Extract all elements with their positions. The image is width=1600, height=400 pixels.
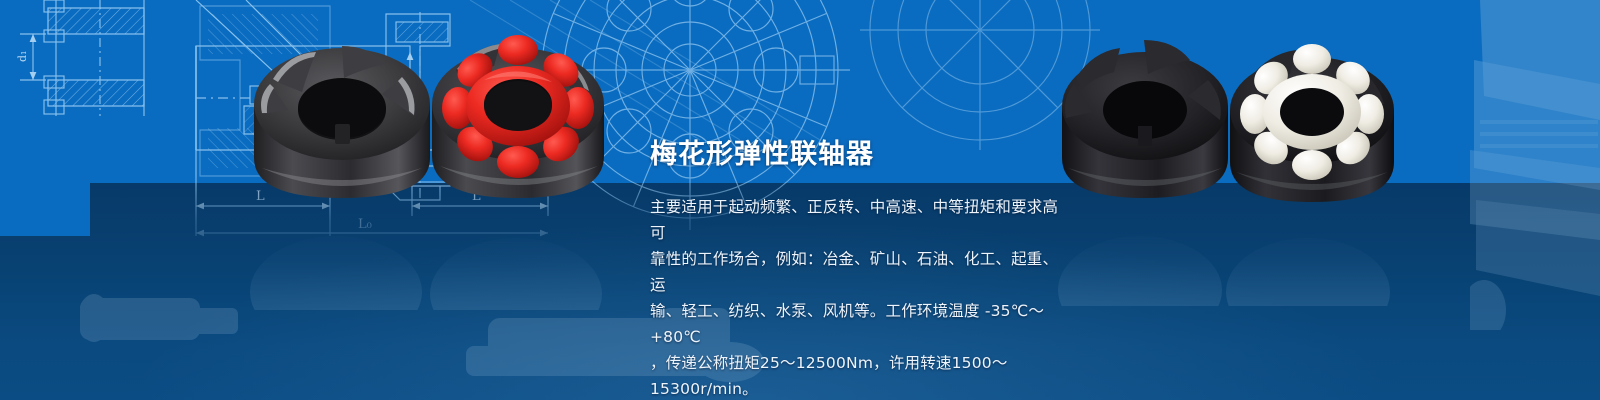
description-line-2: 靠性的工作场合，例如：冶金、矿山、石油、化工、起重、运 bbox=[650, 246, 1070, 298]
description-line-1: 主要适用于起动频繁、正反转、中高速、中等扭矩和要求高可 bbox=[650, 194, 1070, 246]
banner-description: 主要适用于起动频繁、正反转、中高速、中等扭矩和要求高可 靠性的工作场合，例如：冶… bbox=[650, 194, 1070, 400]
ghost-machinery-right bbox=[1470, 0, 1600, 330]
page-title: 梅花形弹性联轴器 bbox=[650, 138, 1070, 172]
product-reflection-right bbox=[1044, 196, 1424, 306]
product-photo-hub-red-spider bbox=[408, 14, 628, 209]
product-photo-hub-white-spider bbox=[1210, 30, 1415, 210]
ghost-machinery-left bbox=[80, 250, 340, 380]
product-banner: d₁ bbox=[0, 0, 1600, 400]
description-line-4: ，传递公称扭矩25～12500Nm，许用转速1500～15300r/min。 bbox=[650, 350, 1070, 400]
description-line-3: 输、轻工、纺织、水泵、风机等。工作环境温度 -35℃～+80℃ bbox=[650, 298, 1070, 350]
svg-text:d₁: d₁ bbox=[16, 51, 29, 62]
banner-text-block: 梅花形弹性联轴器 主要适用于起动频繁、正反转、中高速、中等扭矩和要求高可 靠性的… bbox=[650, 138, 1070, 400]
